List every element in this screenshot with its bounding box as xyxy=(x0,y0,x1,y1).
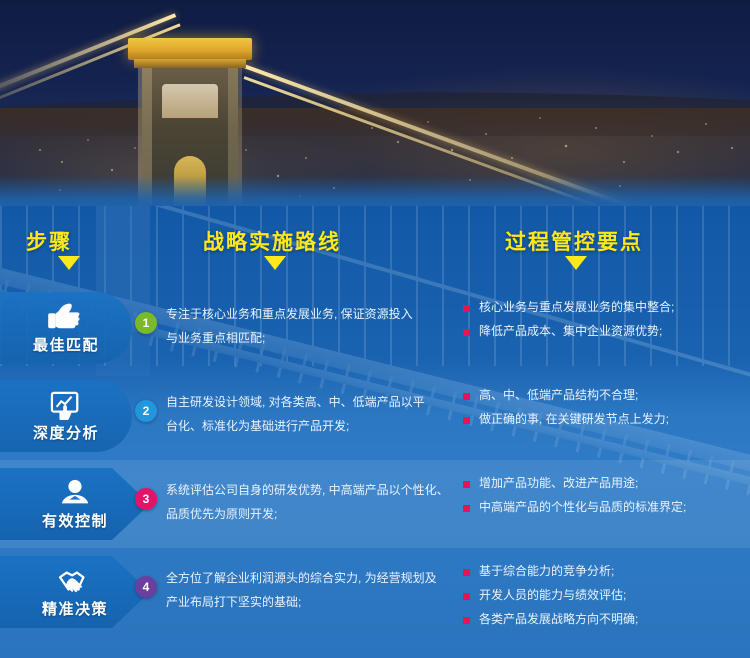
list-item: 降低产品成本、集中企业资源优势; xyxy=(463,324,748,339)
bullet-square-icon xyxy=(463,417,470,424)
list-item: 高、中、低端产品结构不合理; xyxy=(463,388,748,403)
bullet-square-icon xyxy=(463,329,470,336)
bullet-square-icon xyxy=(463,393,470,400)
thumbs-up-icon xyxy=(47,302,85,332)
route-line: 产业布局打下坚实的基础; xyxy=(166,590,436,614)
route-line: 专注于核心业务和重点发展业务, 保证资源投入 xyxy=(166,302,436,326)
step-label-2: 深度分析 xyxy=(33,422,99,443)
control-point-text: 高、中、低端产品结构不合理; xyxy=(479,388,638,403)
list-item: 增加产品功能、改进产品用途; xyxy=(463,476,748,491)
list-item: 各类产品发展战略方向不明确; xyxy=(463,612,748,627)
control-point-text: 核心业务与重点发展业务的集中整合; xyxy=(479,300,674,315)
tower-archway xyxy=(162,84,218,118)
bullet-square-icon xyxy=(463,505,470,512)
control-point-text: 开发人员的能力与绩效评估; xyxy=(479,588,626,603)
triangle-down-icon-route xyxy=(264,256,286,270)
route-text-4: 全方位了解企业利润源头的综合实力, 为经营规划及 产业布局打下坚实的基础; xyxy=(166,566,436,614)
chart-screen-hand-icon xyxy=(47,390,85,420)
tower-cap-shadow xyxy=(134,59,246,68)
control-point-text: 各类产品发展战略方向不明确; xyxy=(479,612,638,627)
step-badge-4[interactable]: 精准决策 xyxy=(0,556,150,628)
bullet-square-icon xyxy=(463,617,470,624)
bullet-square-icon xyxy=(463,569,470,576)
table-row: 精准决策 4 全方位了解企业利润源头的综合实力, 为经营规划及 产业布局打下坚实… xyxy=(0,548,750,636)
step-label-4: 精准决策 xyxy=(42,598,108,619)
control-point-text: 中高端产品的个性化与品质的标准界定; xyxy=(479,500,686,515)
control-point-text: 增加产品功能、改进产品用途; xyxy=(479,476,638,491)
column-header-route: 战略实施路线 xyxy=(203,226,341,256)
step-label-1: 最佳匹配 xyxy=(33,334,99,355)
table-row: 深度分析 2 自主研发设计领域, 对各类高、中、低端产品以平 台化、标准化为基础… xyxy=(0,372,750,460)
step-badge-2[interactable]: 深度分析 xyxy=(0,380,132,452)
route-line: 系统评估公司自身的研发优势, 中高端产品以个性化、 xyxy=(166,478,436,502)
triangle-down-icon-control xyxy=(565,256,587,270)
infographic-page: 步骤 战略实施路线 过程管控要点 最佳匹配 1 专注于核心业务和重点发展业务, … xyxy=(0,0,750,658)
control-point-text: 基于综合能力的竞争分析; xyxy=(479,564,614,579)
route-line: 台化、标准化为基础进行产品开发; xyxy=(166,414,436,438)
step-badge-3[interactable]: 有效控制 xyxy=(0,468,150,540)
list-item: 开发人员的能力与绩效评估; xyxy=(463,588,748,603)
list-item: 做正确的事, 在关键研发节点上发力; xyxy=(463,412,748,427)
route-line: 与业务重点相匹配; xyxy=(166,326,436,350)
triangle-down-icon-steps xyxy=(58,256,80,270)
route-line: 品质优先为原则开发; xyxy=(166,502,436,526)
person-icon xyxy=(56,478,94,508)
table-row: 有效控制 3 系统评估公司自身的研发优势, 中高端产品以个性化、 品质优先为原则… xyxy=(0,460,750,548)
control-points-2: 高、中、低端产品结构不合理; 做正确的事, 在关键研发节点上发力; xyxy=(463,388,748,436)
control-point-text: 降低产品成本、集中企业资源优势; xyxy=(479,324,662,339)
hero-bottom-fade xyxy=(0,176,750,206)
step-badge-1[interactable]: 最佳匹配 xyxy=(0,292,132,364)
route-text-1: 专注于核心业务和重点发展业务, 保证资源投入 与业务重点相匹配; xyxy=(166,302,436,350)
tower-cap xyxy=(128,38,252,60)
list-item: 核心业务与重点发展业务的集中整合; xyxy=(463,300,748,315)
column-header-control: 过程管控要点 xyxy=(505,226,643,256)
step-number-2: 2 xyxy=(135,400,157,422)
list-item: 基于综合能力的竞争分析; xyxy=(463,564,748,579)
step-number-3: 3 xyxy=(135,488,157,510)
bullet-square-icon xyxy=(463,305,470,312)
route-line: 自主研发设计领域, 对各类高、中、低端产品以平 xyxy=(166,390,436,414)
control-points-3: 增加产品功能、改进产品用途; 中高端产品的个性化与品质的标准界定; xyxy=(463,476,748,524)
route-text-2: 自主研发设计领域, 对各类高、中、低端产品以平 台化、标准化为基础进行产品开发; xyxy=(166,390,436,438)
control-point-text: 做正确的事, 在关键研发节点上发力; xyxy=(479,412,669,427)
handshake-icon xyxy=(56,566,94,596)
route-line: 全方位了解企业利润源头的综合实力, 为经营规划及 xyxy=(166,566,436,590)
list-item: 中高端产品的个性化与品质的标准界定; xyxy=(463,500,748,515)
bullet-square-icon xyxy=(463,593,470,600)
step-number-1: 1 xyxy=(135,312,157,334)
control-points-1: 核心业务与重点发展业务的集中整合; 降低产品成本、集中企业资源优势; xyxy=(463,300,748,348)
control-points-4: 基于综合能力的竞争分析; 开发人员的能力与绩效评估; 各类产品发展战略方向不明确… xyxy=(463,564,748,636)
route-text-3: 系统评估公司自身的研发优势, 中高端产品以个性化、 品质优先为原则开发; xyxy=(166,478,436,526)
table-row: 最佳匹配 1 专注于核心业务和重点发展业务, 保证资源投入 与业务重点相匹配; … xyxy=(0,284,750,372)
bullet-square-icon xyxy=(463,481,470,488)
step-label-3: 有效控制 xyxy=(42,510,108,531)
column-header-steps: 步骤 xyxy=(26,226,72,256)
hero-banner-image xyxy=(0,0,750,206)
step-number-4: 4 xyxy=(135,576,157,598)
